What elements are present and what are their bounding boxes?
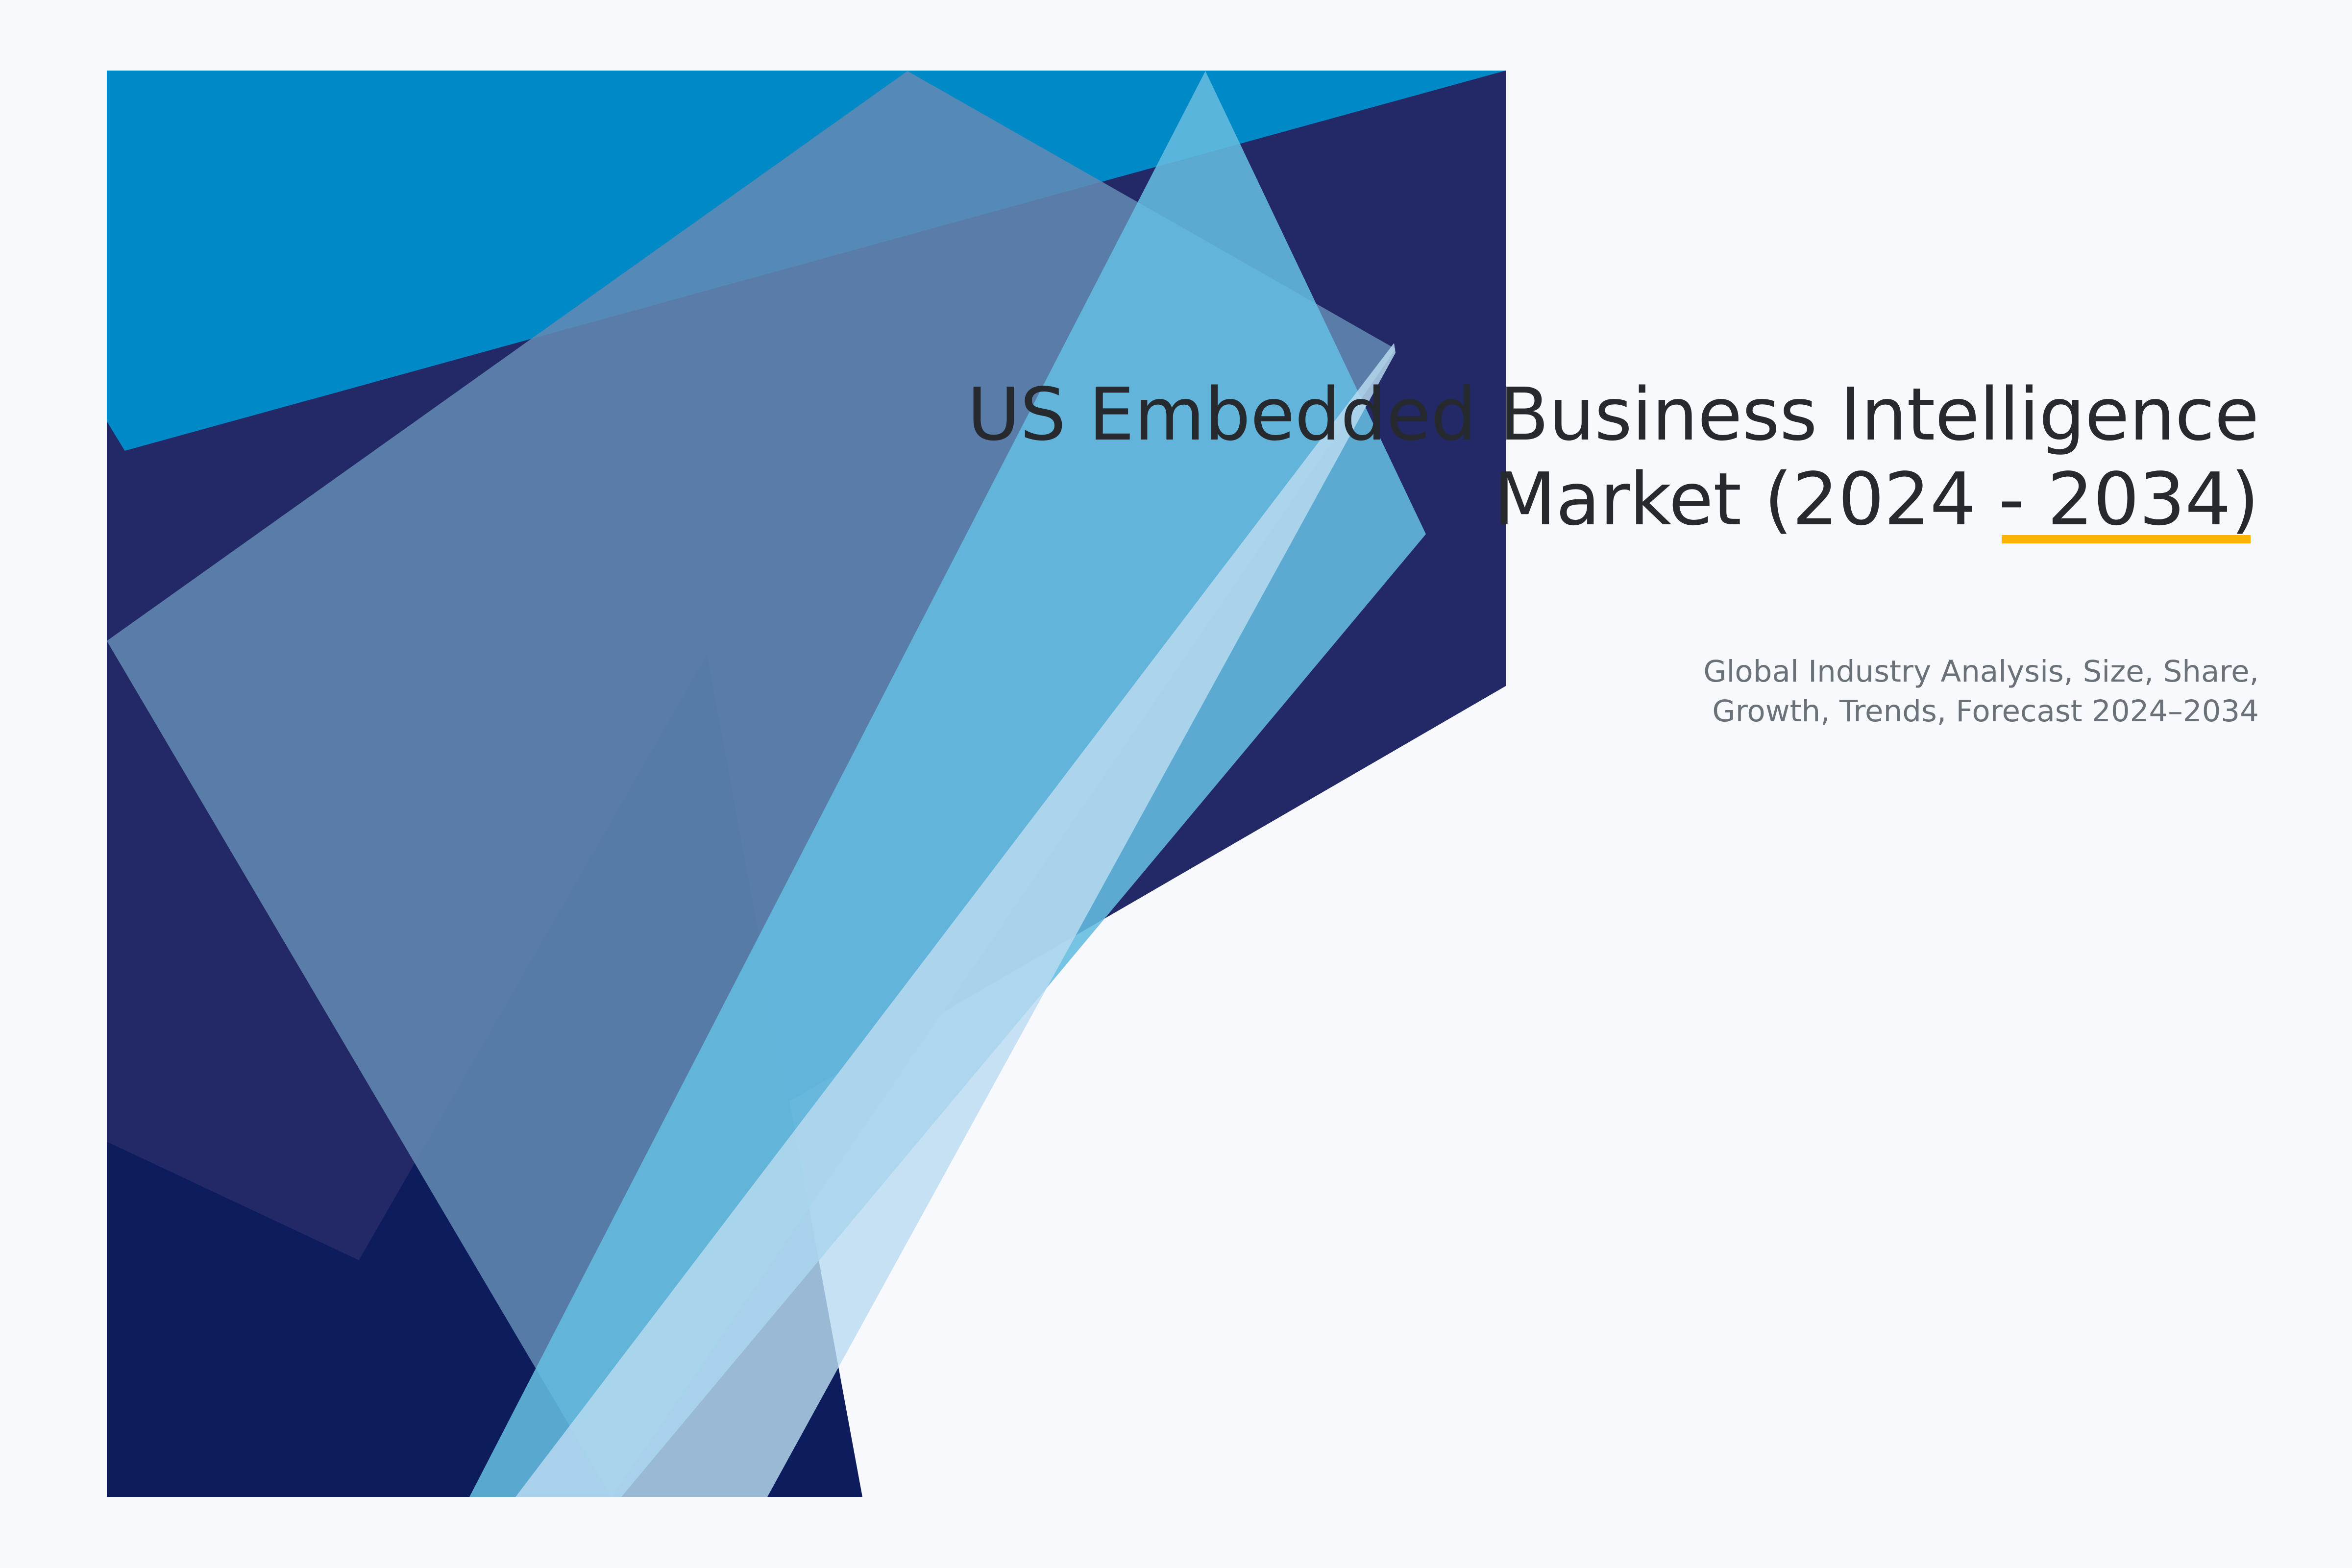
report-cover-page: US Embedded Business IntelligenceMarket …	[0, 0, 2352, 1568]
page-subtitle: Global Industry Analysis, Size, Share,Gr…	[1323, 652, 2259, 731]
page-subtitle-line-2: Growth, Trends, Forecast 2024–2034	[1712, 694, 2259, 729]
page-subtitle-line-1: Global Industry Analysis, Size, Share,	[1703, 654, 2259, 689]
page-title-line-2: Market (2024 - 2034)	[1494, 457, 2259, 541]
cover-text-block: US Embedded Business IntelligenceMarket …	[833, 372, 2259, 542]
abstract-geometric-artwork	[0, 0, 2352, 1568]
page-title: US Embedded Business IntelligenceMarket …	[833, 372, 2259, 542]
page-title-line-1: US Embedded Business Intelligence	[967, 372, 2259, 457]
